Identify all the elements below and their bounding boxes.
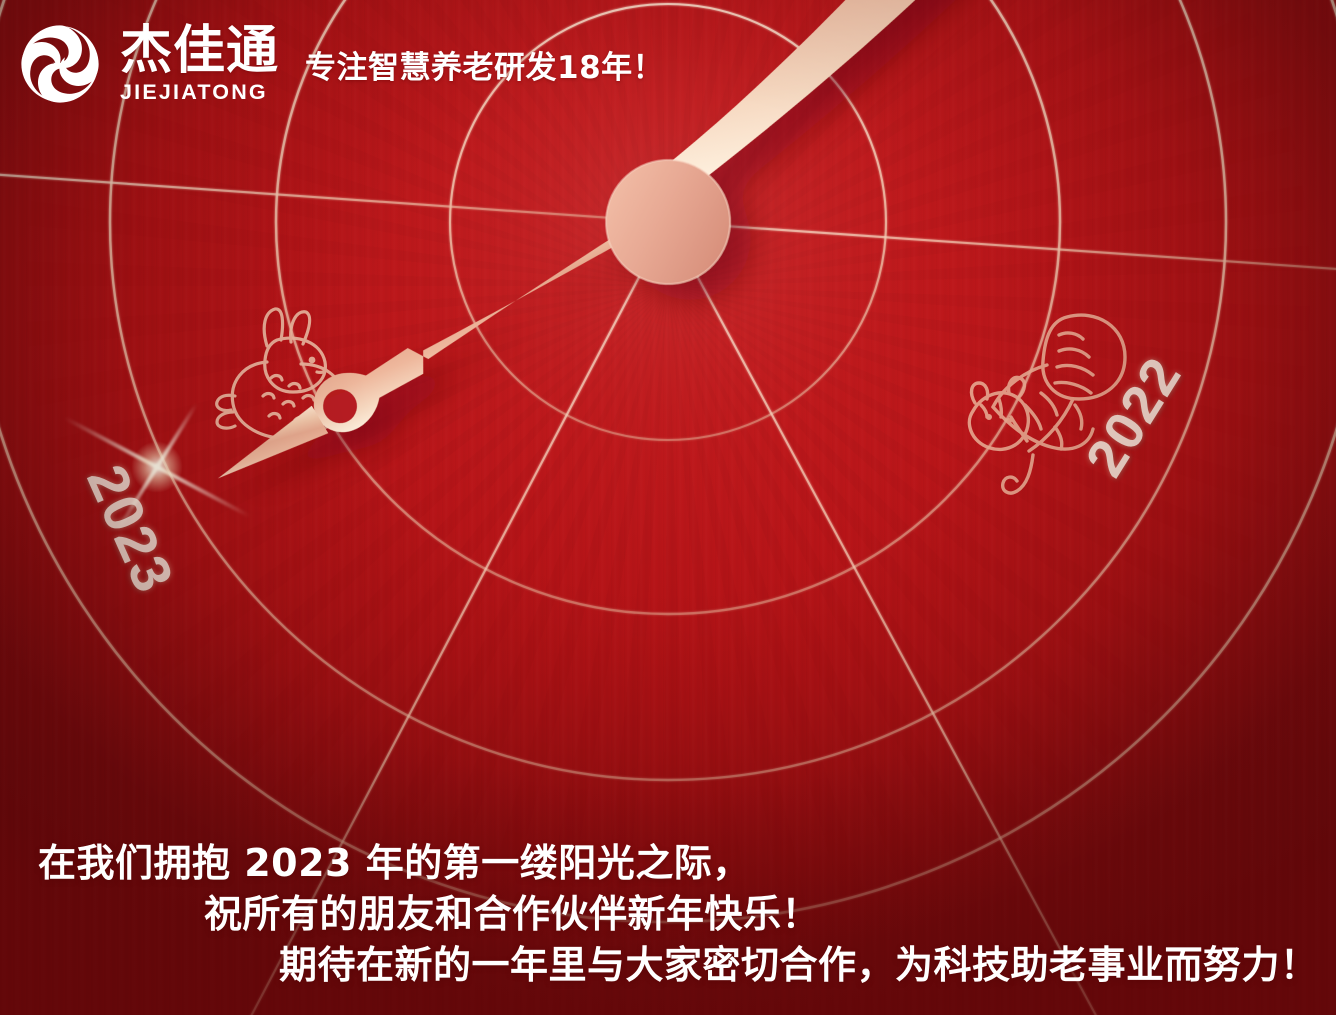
year-label-2022: 2022 [1074,346,1194,488]
new-year-greeting-poster: 2023 2022 杰佳通 JIEJIATONG 专注智慧养老研发18年！ 在我… [0,0,1336,1015]
sparkle-flare-icon [152,462,162,472]
greeting-line-2: 祝所有的朋友和合作伙伴新年快乐！ [204,889,1312,940]
brand-wordmark: 杰佳通 JIEJIATONG [120,25,279,104]
brand-header: 杰佳通 JIEJIATONG 专注智慧养老研发18年！ [18,22,664,106]
rabbit-icon [205,300,365,450]
brand-name-cn: 杰佳通 [120,25,279,77]
greeting-line-1: 在我们拥抱 2023 年的第一缕阳光之际， [38,838,1312,889]
brand-name-en: JIEJIATONG [120,82,279,104]
brand-tagline: 专注智慧养老研发18年！ [305,42,664,87]
swirl-pinwheel-logo-icon [18,22,102,106]
year-label-2023: 2023 [74,455,187,603]
greeting-message: 在我们拥抱 2023 年的第一缕阳光之际， 祝所有的朋友和合作伙伴新年快乐！ 期… [0,838,1336,991]
greeting-line-3: 期待在新的一年里与大家密切合作，为科技助老事业而努力！ [279,940,1312,991]
